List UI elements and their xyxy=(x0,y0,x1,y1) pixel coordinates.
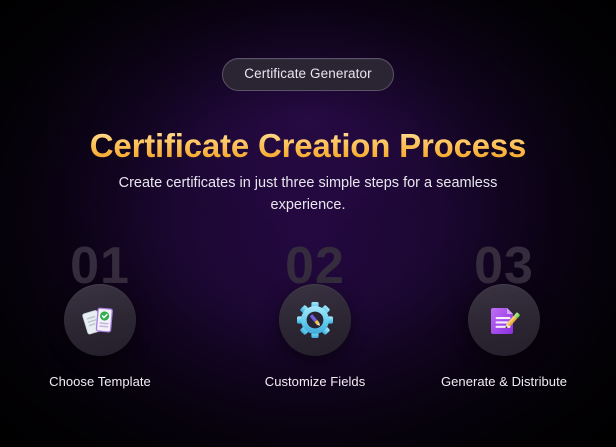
step-label-3: Generate & Distribute xyxy=(404,374,604,390)
hero-section: Certificate Generator Certificate Creati… xyxy=(0,0,616,447)
step-label-2: Customize Fields xyxy=(215,374,415,390)
section-badge[interactable]: Certificate Generator xyxy=(222,58,393,91)
step-item-1[interactable]: 01 xyxy=(0,240,200,410)
step-icon-circle-1 xyxy=(64,284,136,356)
step-item-2[interactable]: 02 xyxy=(215,240,415,410)
document-pencil-icon xyxy=(484,300,524,340)
step-icon-circle-2 xyxy=(279,284,351,356)
gear-pencil-icon xyxy=(295,300,335,340)
badge-row: Certificate Generator xyxy=(0,58,616,91)
hero-content: Certificate Generator Certificate Creati… xyxy=(0,0,616,447)
step-icon-circle-3 xyxy=(468,284,540,356)
page-title: Certificate Creation Process xyxy=(0,128,616,164)
certificate-documents-icon xyxy=(80,300,120,340)
step-item-3[interactable]: 03 xyxy=(404,240,604,410)
steps-container: 01 xyxy=(0,240,616,410)
step-label-1: Choose Template xyxy=(0,374,200,390)
page-subtitle: Create certificates in just three simple… xyxy=(113,172,503,217)
